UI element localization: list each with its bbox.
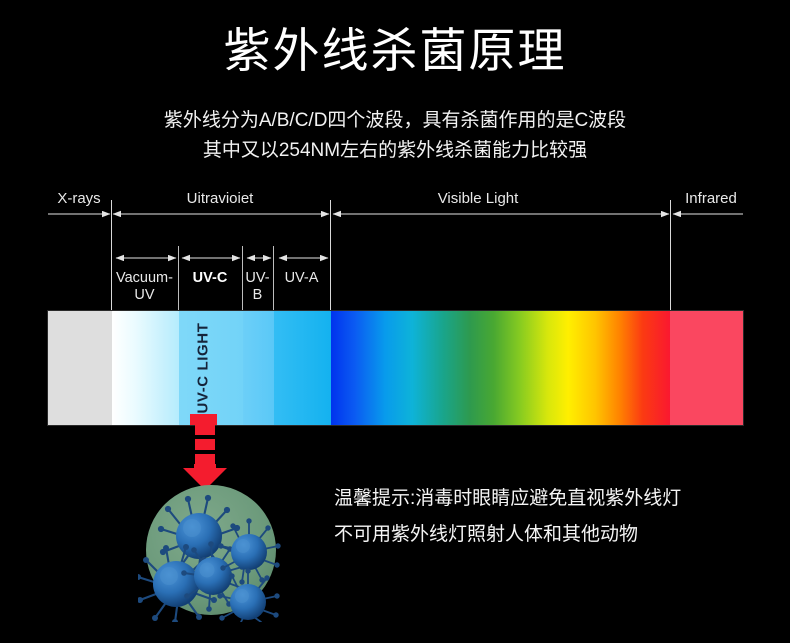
spectrum-chart: X-rays Uitravioiet Visible Light Infrare… bbox=[0, 0, 790, 440]
spectrum-segment-uva bbox=[274, 311, 331, 425]
subband-label-uvb: UV-B bbox=[243, 270, 272, 304]
subband-label-uvc: UV-C bbox=[179, 270, 241, 287]
subband-label-uva: UV-A bbox=[274, 270, 329, 287]
diagram-canvas: 紫外线杀菌原理 紫外线分为A/B/C/D四个波段，具有杀菌作用的是C波段 其中又… bbox=[0, 0, 790, 643]
band-label-xrays: X-rays bbox=[29, 190, 129, 207]
safety-note-1: 温馨提示:消毒时眼睛应避免直视紫外线灯 bbox=[334, 486, 681, 511]
band-label-infrared: Infrared bbox=[661, 190, 761, 207]
spectrum-segment-visible bbox=[331, 311, 670, 425]
spectrum-segment-uvb bbox=[243, 311, 274, 425]
safety-note-2: 不可用紫外线灯照射人体和其他动物 bbox=[334, 522, 638, 547]
virus-cell-icon bbox=[138, 476, 284, 622]
uvc-light-callout: UV-C LIGHT bbox=[195, 323, 212, 414]
spectrum-bar bbox=[48, 311, 743, 425]
spectrum-segment-xray bbox=[48, 311, 112, 425]
band-label-ultraviolet: Uitravioiet bbox=[160, 190, 280, 207]
band-label-visible-light: Visible Light bbox=[418, 190, 538, 207]
spectrum-segment-infrared bbox=[670, 311, 743, 425]
subband-label-vacuum-uv: Vacuum-UV bbox=[112, 270, 177, 304]
spectrum-segment-vacuum-uv bbox=[112, 311, 179, 425]
